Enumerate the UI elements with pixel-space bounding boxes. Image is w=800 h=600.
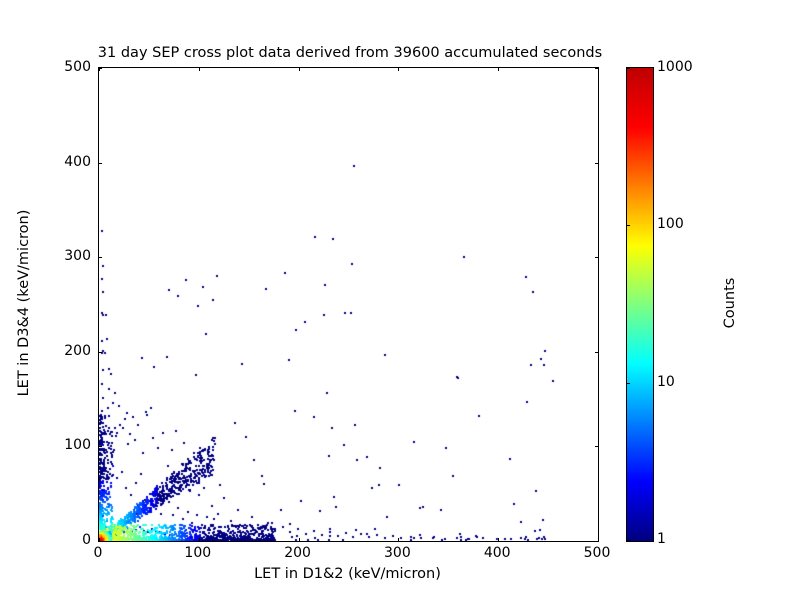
colorbar-tick-mark: [626, 225, 630, 226]
colorbar-tick-label: 1: [657, 531, 666, 547]
y-tick-label: 500: [64, 59, 91, 75]
colorbar-tick-label: 100: [657, 216, 684, 232]
y-tick-mark: [98, 257, 102, 258]
y-tick-mark-right: [595, 68, 599, 69]
x-tick-label: 500: [584, 545, 611, 561]
x-tick-label: 300: [384, 545, 411, 561]
x-tick-mark: [498, 538, 499, 542]
figure-canvas: 31 day SEP cross plot data derived from …: [0, 0, 800, 600]
y-tick-mark-right: [595, 446, 599, 447]
y-tick-mark: [98, 446, 102, 447]
x-tick-label: 0: [94, 545, 103, 561]
colorbar-tick-mark: [626, 540, 630, 541]
x-tick-mark: [299, 538, 300, 542]
x-tick-label: 100: [184, 545, 211, 561]
y-tick-label: 300: [64, 248, 91, 264]
y-tick-label: 200: [64, 343, 91, 359]
y-tick-label: 400: [64, 154, 91, 170]
colorbar-gradient: [627, 68, 653, 541]
x-tick-mark-top: [299, 67, 300, 71]
y-tick-label: 0: [82, 532, 91, 548]
x-axis-label: LET in D1&2 (keV/micron): [98, 566, 597, 582]
y-tick-mark: [98, 163, 102, 164]
y-tick-mark-right: [595, 163, 599, 164]
title-line-1: 31 day SEP cross plot data derived from …: [0, 44, 700, 62]
x-tick-mark: [199, 538, 200, 542]
y-tick-label: 100: [64, 437, 91, 453]
colorbar: [626, 67, 654, 542]
x-tick-mark-top: [498, 67, 499, 71]
x-tick-label: 400: [484, 545, 511, 561]
y-tick-mark-right: [595, 541, 599, 542]
colorbar-tick-label: 10: [657, 374, 675, 390]
colorbar-label: Counts: [722, 278, 738, 329]
y-tick-mark-right: [595, 352, 599, 353]
y-tick-mark-right: [595, 257, 599, 258]
colorbar-tick-label: 1000: [657, 59, 693, 75]
y-tick-mark: [98, 541, 102, 542]
colorbar-tick-mark: [626, 68, 630, 69]
y-axis-label: LET in D3&4 (keV/micron): [16, 210, 32, 397]
x-tick-mark-top: [199, 67, 200, 71]
x-tick-mark-top: [398, 67, 399, 71]
y-tick-mark: [98, 68, 102, 69]
scatter-layer: [99, 68, 598, 541]
x-tick-mark: [398, 538, 399, 542]
y-tick-mark: [98, 352, 102, 353]
x-tick-label: 200: [284, 545, 311, 561]
plot-area: [98, 67, 599, 542]
colorbar-tick-mark: [626, 383, 630, 384]
